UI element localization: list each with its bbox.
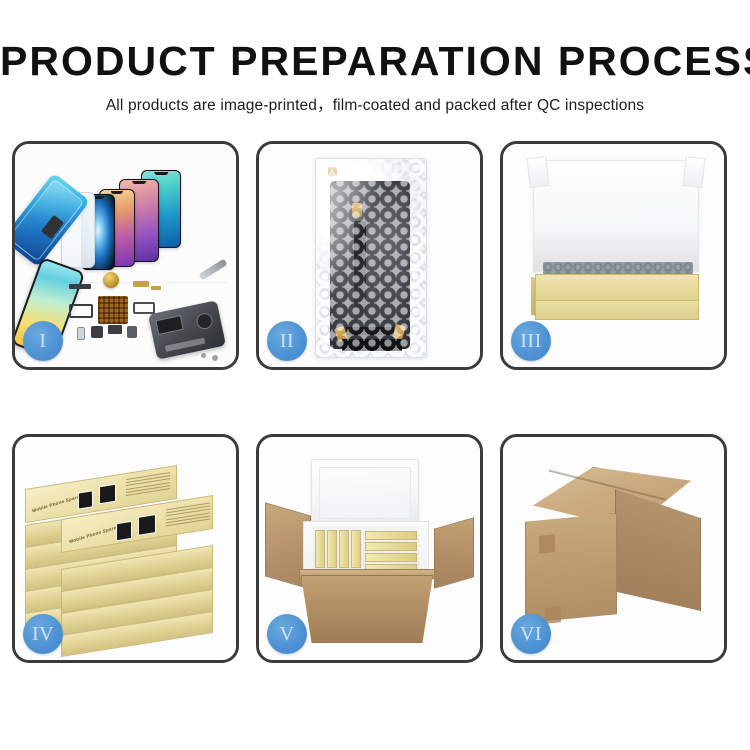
connector-strip-icon [342, 339, 402, 351]
panel-bubble-wrap-bag: II [256, 141, 483, 370]
styrofoam-lid-icon [311, 459, 419, 527]
cardboard-carton-icon [301, 575, 433, 643]
flex-cable-2-icon [133, 302, 155, 314]
box-lid-icon [533, 160, 699, 272]
tweezers-icon [198, 259, 227, 281]
camera-module-icon [127, 326, 137, 338]
cream-box-front-icon [535, 300, 699, 320]
gold-tab-2-icon [328, 167, 337, 176]
box-contents [313, 527, 419, 571]
back-housing-icon [148, 300, 226, 360]
cream-box-item [351, 530, 361, 568]
panel-foam-carton: V [256, 434, 483, 663]
panel-inner-box: III [500, 141, 727, 370]
page-subtitle: All products are image-printed，film-coat… [0, 93, 750, 115]
step-badge-1: I [23, 321, 63, 361]
screw-icon [212, 355, 218, 361]
page-title: PRODUCT PREPARATION PROCESS [0, 40, 750, 83]
cream-box-item [365, 531, 417, 540]
packing-tape-2-icon [545, 606, 561, 624]
bubble-wrap-bag-icon [315, 158, 427, 358]
cream-box-item [327, 530, 337, 568]
sim-tray-icon [77, 327, 85, 340]
panel-products-and-parts: I [12, 141, 239, 370]
cream-box-item [365, 542, 417, 551]
flex-cable-icon [69, 304, 93, 318]
step-badge-5: V [267, 614, 307, 654]
part-bar-icon [69, 284, 91, 289]
packing-tape-icon [539, 534, 555, 554]
product-preparation-infographic: PRODUCT PREPARATION PROCESS All products… [0, 0, 750, 750]
product-thumbnail-2-icon [138, 514, 156, 536]
part-gold-tab-icon [151, 286, 161, 290]
part-small-icon [91, 326, 103, 338]
step-badge-6: VI [511, 614, 551, 654]
header: PRODUCT PREPARATION PROCESS All products… [0, 40, 750, 115]
flex-cable-icon [354, 221, 366, 317]
speaker-coil-icon [103, 272, 119, 288]
product-thumbnail-icon [116, 521, 132, 542]
step-badge-2: II [267, 321, 307, 361]
carton-flap-right [434, 517, 474, 588]
label-text-lines [166, 502, 210, 528]
gold-tab-icon [352, 203, 362, 217]
cream-box-item [315, 530, 325, 568]
cream-box-item [339, 530, 349, 568]
step-badge-3: III [511, 321, 551, 361]
cream-box-item [365, 553, 417, 562]
label-text-lines [126, 472, 170, 498]
process-step-grid: I II [12, 141, 738, 681]
logic-board-icon [98, 296, 128, 324]
connector-strip-2-icon [346, 327, 394, 335]
panel-sealed-carton: VI [500, 434, 727, 663]
screw-2-icon [201, 353, 206, 358]
product-thumbnail-2-icon [99, 484, 116, 505]
step-badge-4: IV [23, 614, 63, 654]
carton-front-face [525, 513, 617, 623]
part-connector-icon [108, 325, 122, 334]
part-gold-bar-icon [133, 281, 149, 287]
product-thumbnail-icon [78, 490, 93, 509]
carton-side-face [615, 489, 701, 611]
panel-stacked-boxes: Mobile Phone Spare Parts Mobile Phone Sp… [12, 434, 239, 663]
